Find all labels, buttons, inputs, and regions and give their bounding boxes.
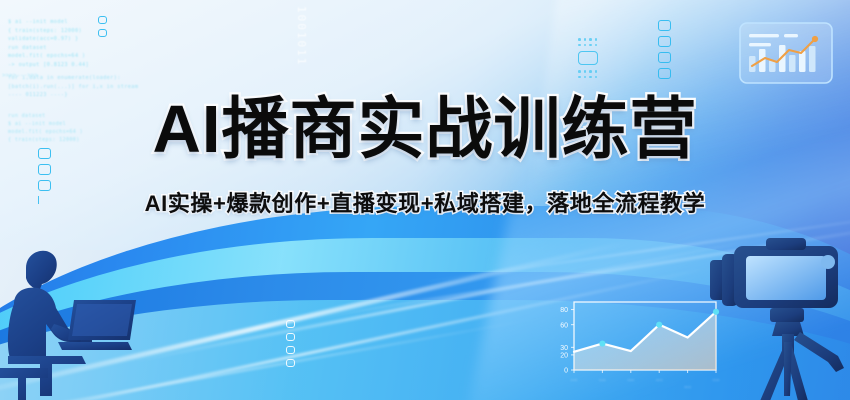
svg-text:20: 20 <box>560 352 568 359</box>
decor-square-column-mid <box>286 320 295 367</box>
decor-square-column-topleft <box>98 16 107 37</box>
svg-text:···: ··· <box>656 377 663 384</box>
mini-line-chart: 020306080·················· <box>548 296 724 400</box>
decor-square <box>658 52 671 63</box>
camera-tripod-silhouette <box>704 238 850 400</box>
decorative-binary-strip: 1001011 <box>296 6 307 66</box>
svg-text:30: 30 <box>560 345 568 352</box>
page-subtitle: AI实操+爆款创作+直播变现+私域搭建，落地全流程教学 <box>0 186 850 218</box>
svg-text:0: 0 <box>564 368 568 375</box>
svg-text:80: 80 <box>560 307 568 314</box>
decor-square <box>286 359 295 367</box>
decor-square <box>658 20 671 31</box>
decorative-arrow-strip: >>>>--->>> <box>2 72 68 79</box>
decor-square-column-right <box>658 20 671 79</box>
course-promo-banner: $ ai --init model { train(steps: 12000) … <box>0 0 850 400</box>
svg-text:60: 60 <box>560 322 568 329</box>
person-at-laptop-silhouette <box>0 246 146 400</box>
decor-square <box>286 346 295 354</box>
decor-square <box>658 68 671 79</box>
page-title: AI播商实战训练营 <box>0 96 850 163</box>
svg-text:···: ··· <box>713 377 720 384</box>
decor-square <box>98 16 107 24</box>
decor-square <box>286 320 295 328</box>
analytics-dashboard-icon <box>739 22 833 89</box>
decor-chip-body <box>578 51 598 65</box>
headline-block: AI播商实战训练营 <box>0 96 850 163</box>
decorative-code-block: $ ai --init model { train(steps: 12000) … <box>8 18 278 70</box>
decor-chip-icon <box>578 38 598 78</box>
svg-text:···: ··· <box>571 377 578 384</box>
svg-text:···: ··· <box>627 377 634 384</box>
decor-square <box>98 29 107 37</box>
svg-text:···: ··· <box>599 377 606 384</box>
decor-square <box>38 164 51 175</box>
decor-square <box>286 333 295 341</box>
decor-square <box>658 36 671 47</box>
svg-text:···: ··· <box>684 384 691 391</box>
